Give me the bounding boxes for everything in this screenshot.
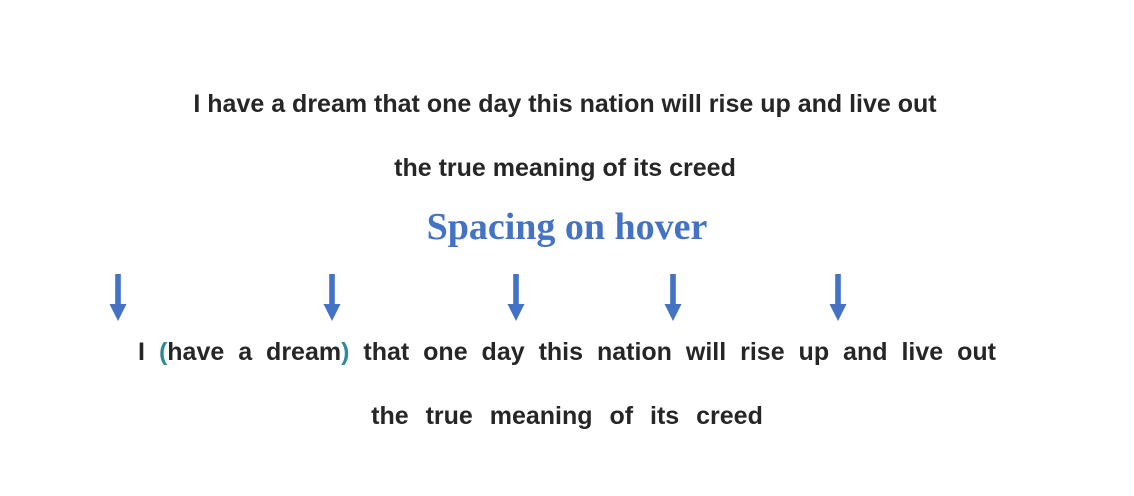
paragraph-normal-line-2: the true meaning of its creed	[120, 136, 1010, 200]
page-title: Spacing on hover	[0, 203, 1134, 251]
paren-content: have a dream	[167, 338, 341, 366]
paragraph-normal-spacing: I have a dream that one day this nation …	[120, 72, 1010, 200]
paragraph-normal-line-1: I have a dream that one day this nation …	[120, 72, 1010, 136]
arrow-down-icon	[322, 274, 342, 322]
arrow-down-icon	[506, 274, 526, 322]
paragraph-spaced-line-2: the true meaning of its creed	[62, 384, 1072, 448]
spaced-line1-prefix: I	[138, 338, 145, 366]
document-page: I have a dream that one day this nation …	[0, 0, 1134, 496]
arrow-down-icon	[828, 274, 848, 322]
arrow-indicator-row	[0, 274, 1134, 324]
spaced-line1-suffix: that one day this nation will rise up an…	[363, 338, 996, 366]
arrow-down-icon	[108, 274, 128, 322]
paragraph-hover-spacing: I (have a dream) that one day this natio…	[62, 320, 1072, 448]
paragraph-spaced-line-1: I (have a dream) that one day this natio…	[62, 320, 1072, 384]
arrow-down-icon	[663, 274, 683, 322]
